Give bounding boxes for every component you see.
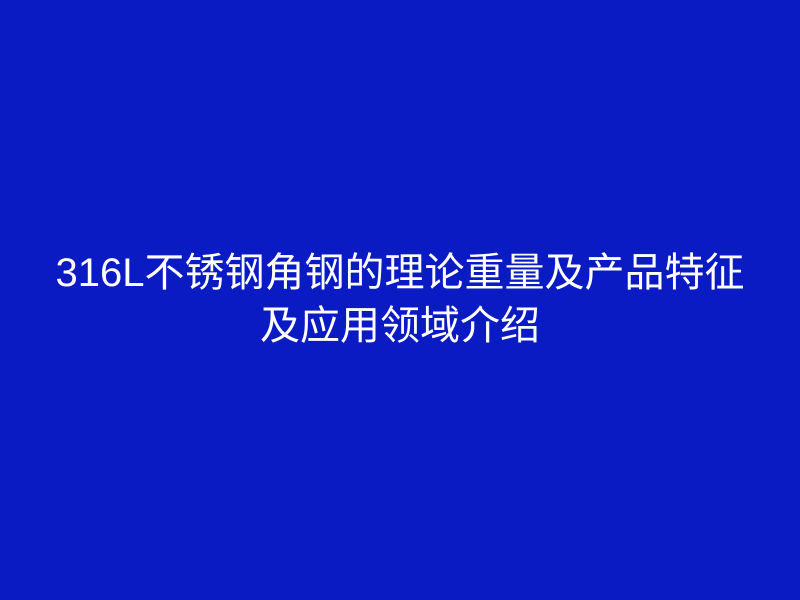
title-block: 316L不锈钢角钢的理论重量及产品特征及应用领域介绍 [20,247,780,353]
slide-canvas: 316L不锈钢角钢的理论重量及产品特征及应用领域介绍 [0,0,800,600]
page-title: 316L不锈钢角钢的理论重量及产品特征及应用领域介绍 [40,247,760,353]
